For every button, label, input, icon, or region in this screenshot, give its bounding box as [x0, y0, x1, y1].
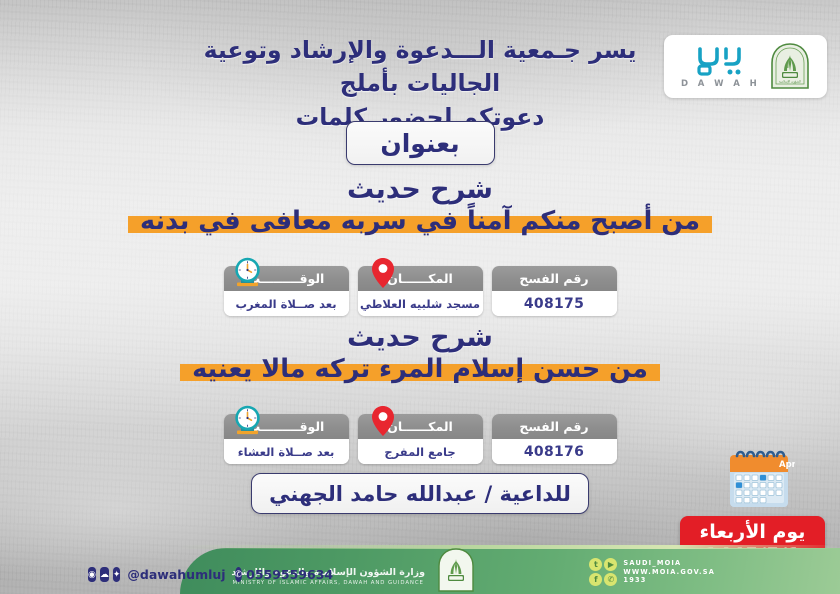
- session-2-place-box: المكــــــان جامع المفرج: [358, 414, 483, 464]
- session-2-time-value: بعد صــلاة العشاء: [224, 439, 349, 464]
- footer-moia-text: SAUDI_MOIA WWW.MOIA.GOV.SA 1933: [623, 559, 715, 586]
- session-1-place-value: مسجد شلبيه العلاطي: [358, 291, 483, 316]
- session-1-permit-box: رقم الفسح 408175: [492, 266, 617, 316]
- session-2-permit-value: 408176: [492, 439, 617, 464]
- session-1-hadith-text: من أصبح منكم آمناً في سربه معافى في بدنه: [136, 206, 704, 236]
- subject-title-label: بعنوان: [380, 129, 459, 158]
- footer-social-strip: ◉ ☁ ✦ @dawahumluj ✆ 0559559634: [0, 567, 300, 582]
- session-2-permit-head: رقم الفسح: [492, 414, 617, 439]
- saudi-ministry-emblem-icon: [437, 548, 475, 592]
- session-1-place-box: المكــــــان مسجد شلبيه العلاطي: [358, 266, 483, 316]
- session-2-time-box: الوقـــــــــت بعد صــلاة العشاء: [224, 414, 349, 464]
- youtube-icon[interactable]: ▶: [604, 558, 617, 571]
- footer-moia-line-3: 1933: [623, 576, 715, 585]
- page-title: يسر جـمعية الـــدعوة والإرشاد وتوعية الج…: [176, 34, 664, 134]
- subject-title-pill: بعنوان: [346, 121, 495, 165]
- contact-phone[interactable]: 0559559634: [246, 567, 333, 582]
- footer: وزارة الشؤون الإسلامية والدعوة والإرشاد …: [0, 548, 840, 594]
- session-2-sharh-label: شرح حديث: [0, 322, 840, 353]
- speaker-pill: للداعية / عبدالله حامد الجهني: [251, 473, 589, 514]
- footer-moia-social-icons: t ▶ f ✆: [589, 558, 617, 586]
- location-pin-icon: [372, 258, 394, 288]
- location-pin-icon: [372, 406, 394, 436]
- instagram-icon[interactable]: ◉: [88, 567, 96, 582]
- footer-moia-block: t ▶ f ✆ SAUDI_MOIA WWW.MOIA.GOV.SA 1933: [589, 558, 715, 586]
- session-1-info-row: رقم الفسح 408175 المكــــــان مسجد شلبيه…: [0, 266, 840, 316]
- session-1-time-box: الوقـــــــــت بعد صــلاة المغرب: [224, 266, 349, 316]
- calendar-month-label: April: [779, 460, 795, 470]
- twitter-icon[interactable]: t: [589, 558, 602, 571]
- facebook-icon[interactable]: f: [589, 573, 602, 586]
- session-1-time-value: بعد صــلاة المغرب: [224, 291, 349, 316]
- speaker-label: للداعية / عبدالله حامد الجهني: [269, 482, 571, 506]
- session-1-heading: شرح حديث من أصبح منكم آمناً في سربه معاف…: [0, 174, 840, 236]
- twitter-icon[interactable]: ✦: [113, 567, 121, 582]
- calendar-icon: April: [723, 445, 795, 513]
- dawah-logo: D A W A H: [681, 45, 757, 89]
- saudi-ministry-emblem-icon: الشؤون الإسلامية: [770, 43, 810, 90]
- session-2-heading: شرح حديث من حسن إسلام المرء تركه مالا يع…: [0, 322, 840, 384]
- session-2-info-row: رقم الفسح 408176 المكــــــان جامع المفر…: [0, 414, 840, 464]
- date-day-label: يوم الأربعاء: [700, 521, 806, 544]
- session-1-hadith-wrap: من أصبح منكم آمناً في سربه معافى في بدنه: [128, 206, 712, 236]
- snapchat-icon[interactable]: ☁: [100, 567, 109, 582]
- session-2-place-value: جامع المفرج: [358, 439, 483, 464]
- phone-icon[interactable]: ✆: [604, 573, 617, 586]
- poster-canvas: يسر جـمعية الـــدعوة والإرشاد وتوعية الج…: [0, 0, 840, 594]
- session-1-permit-value: 408175: [492, 291, 617, 316]
- social-handle[interactable]: @dawahumluj: [127, 567, 225, 582]
- dawah-wordmark: D A W A H: [681, 79, 760, 89]
- footer-moia-line-1: SAUDI_MOIA: [623, 559, 715, 568]
- organization-logo-card: الشؤون الإسلامية D A W A H: [664, 35, 827, 98]
- session-2-hadith-wrap: من حسن إسلام المرء تركه مالا يعنيه: [180, 354, 660, 384]
- session-1-sharh-label: شرح حديث: [0, 174, 840, 205]
- session-2-hadith-text: من حسن إسلام المرء تركه مالا يعنيه: [188, 354, 652, 384]
- dawah-logo-icon: [693, 45, 745, 77]
- clock-icon: [232, 405, 263, 436]
- session-2-permit-box: رقم الفسح 408176: [492, 414, 617, 464]
- header-line-1: يسر جـمعية الـــدعوة والإرشاد وتوعية الج…: [204, 36, 637, 97]
- whatsapp-icon[interactable]: ✆: [235, 567, 243, 582]
- clock-icon: [232, 257, 263, 288]
- footer-moia-line-2: WWW.MOIA.GOV.SA: [623, 568, 715, 577]
- session-1-permit-head: رقم الفسح: [492, 266, 617, 291]
